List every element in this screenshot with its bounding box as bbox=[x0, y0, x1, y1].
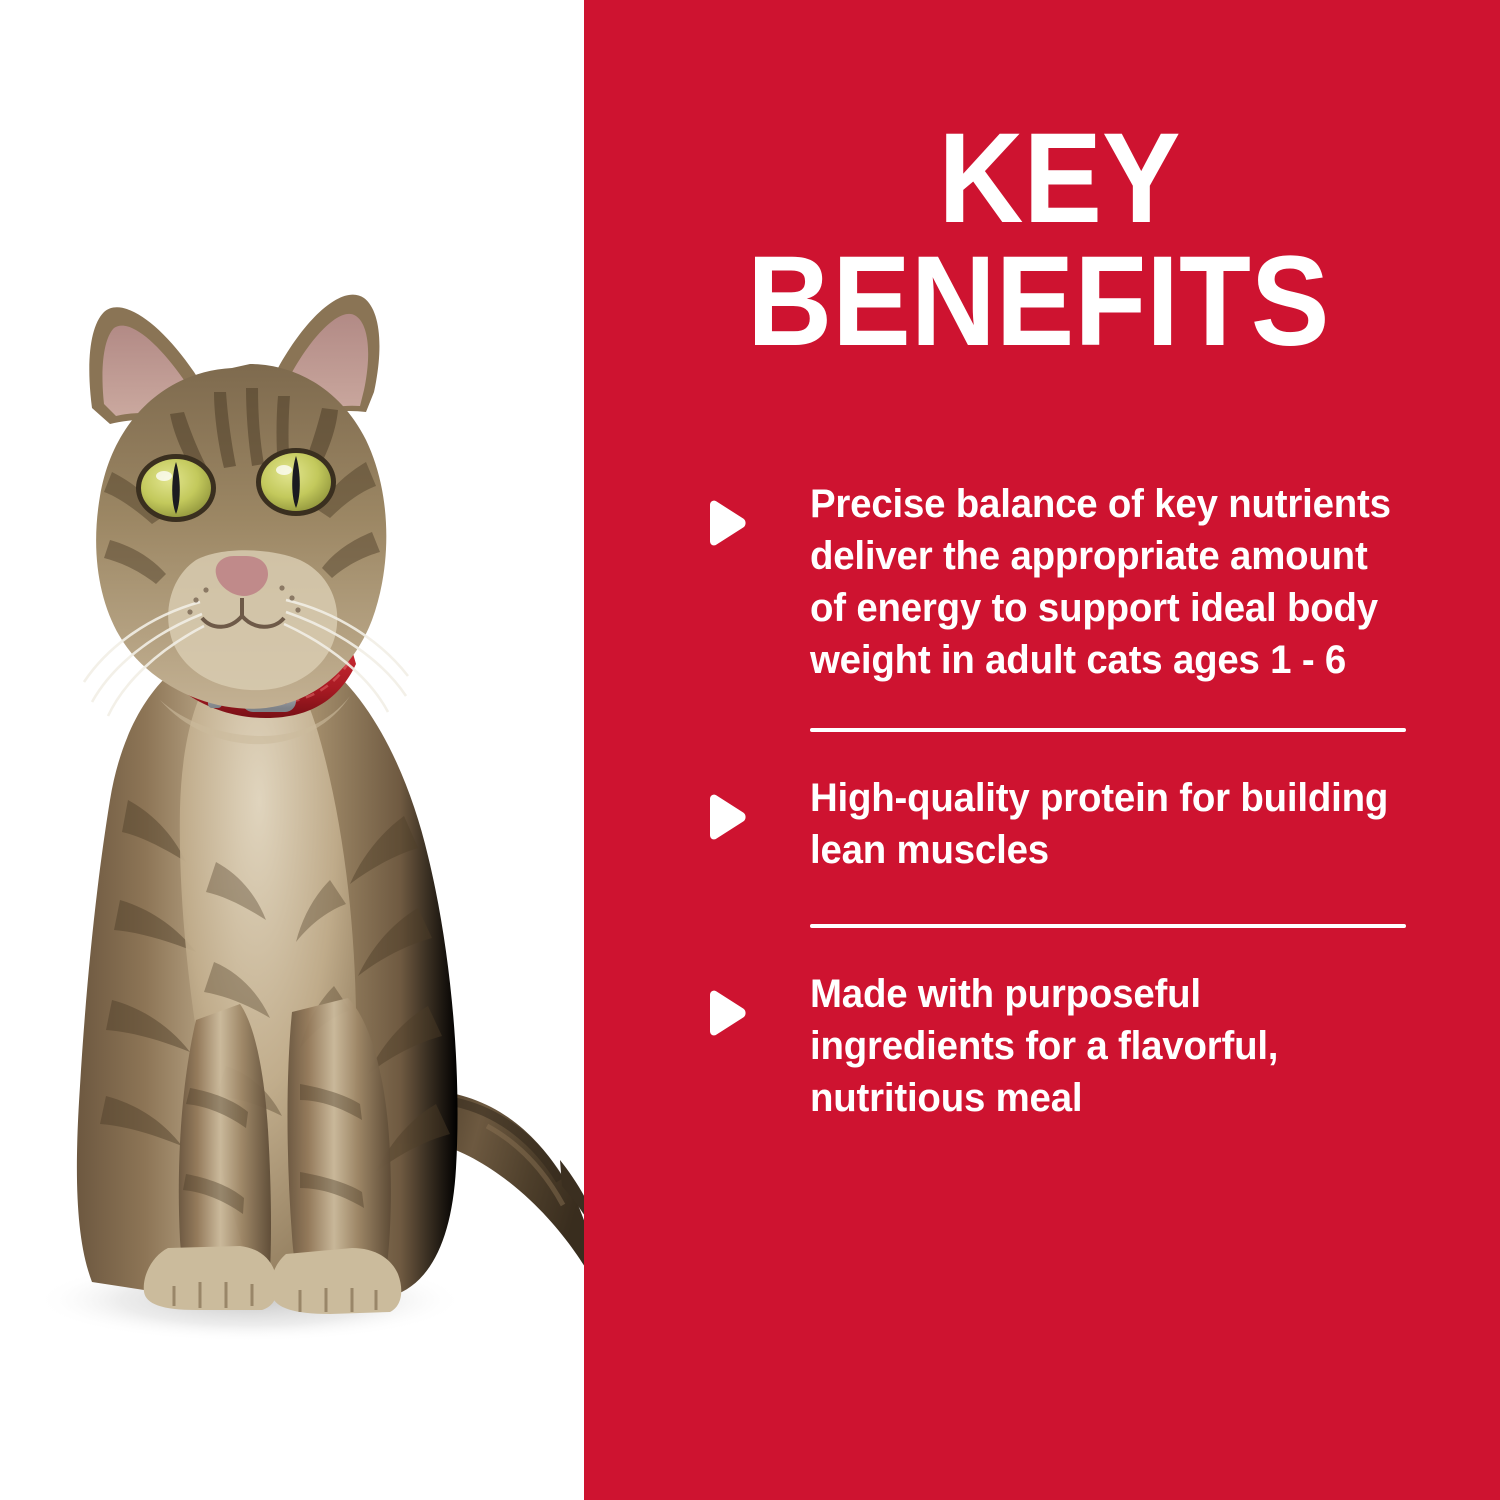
spacer bbox=[700, 928, 1420, 968]
benefits-list: Precise balance of key nutrients deliver… bbox=[700, 478, 1420, 1124]
benefit-text-1: Precise balance of key nutrients deliver… bbox=[810, 478, 1396, 686]
key-benefits-panel-page: KEY BENEFITS Precise balance of key nutr… bbox=[0, 0, 1500, 1500]
benefit-text-2: High-quality protein for building lean m… bbox=[810, 772, 1396, 876]
list-item: Precise balance of key nutrients deliver… bbox=[700, 478, 1420, 686]
benefits-panel: KEY BENEFITS Precise balance of key nutr… bbox=[584, 0, 1500, 1500]
page-title-line-2: BENEFITS bbox=[621, 241, 1464, 364]
page-title: KEY BENEFITS bbox=[584, 118, 1500, 364]
cat-tail-overhang bbox=[0, 0, 584, 1500]
benefit-text-3: Made with purposeful ingredients for a f… bbox=[810, 968, 1396, 1124]
list-item: High-quality protein for building lean m… bbox=[700, 772, 1420, 876]
spacer bbox=[700, 876, 1420, 924]
spacer bbox=[700, 732, 1420, 772]
spacer bbox=[700, 686, 1420, 728]
play-triangle-icon bbox=[700, 792, 752, 842]
play-triangle-icon bbox=[700, 988, 752, 1038]
play-triangle-icon bbox=[700, 498, 752, 548]
page-title-line-1: KEY bbox=[621, 118, 1464, 241]
list-item: Made with purposeful ingredients for a f… bbox=[700, 968, 1420, 1124]
cat-photo-panel bbox=[0, 0, 584, 1500]
